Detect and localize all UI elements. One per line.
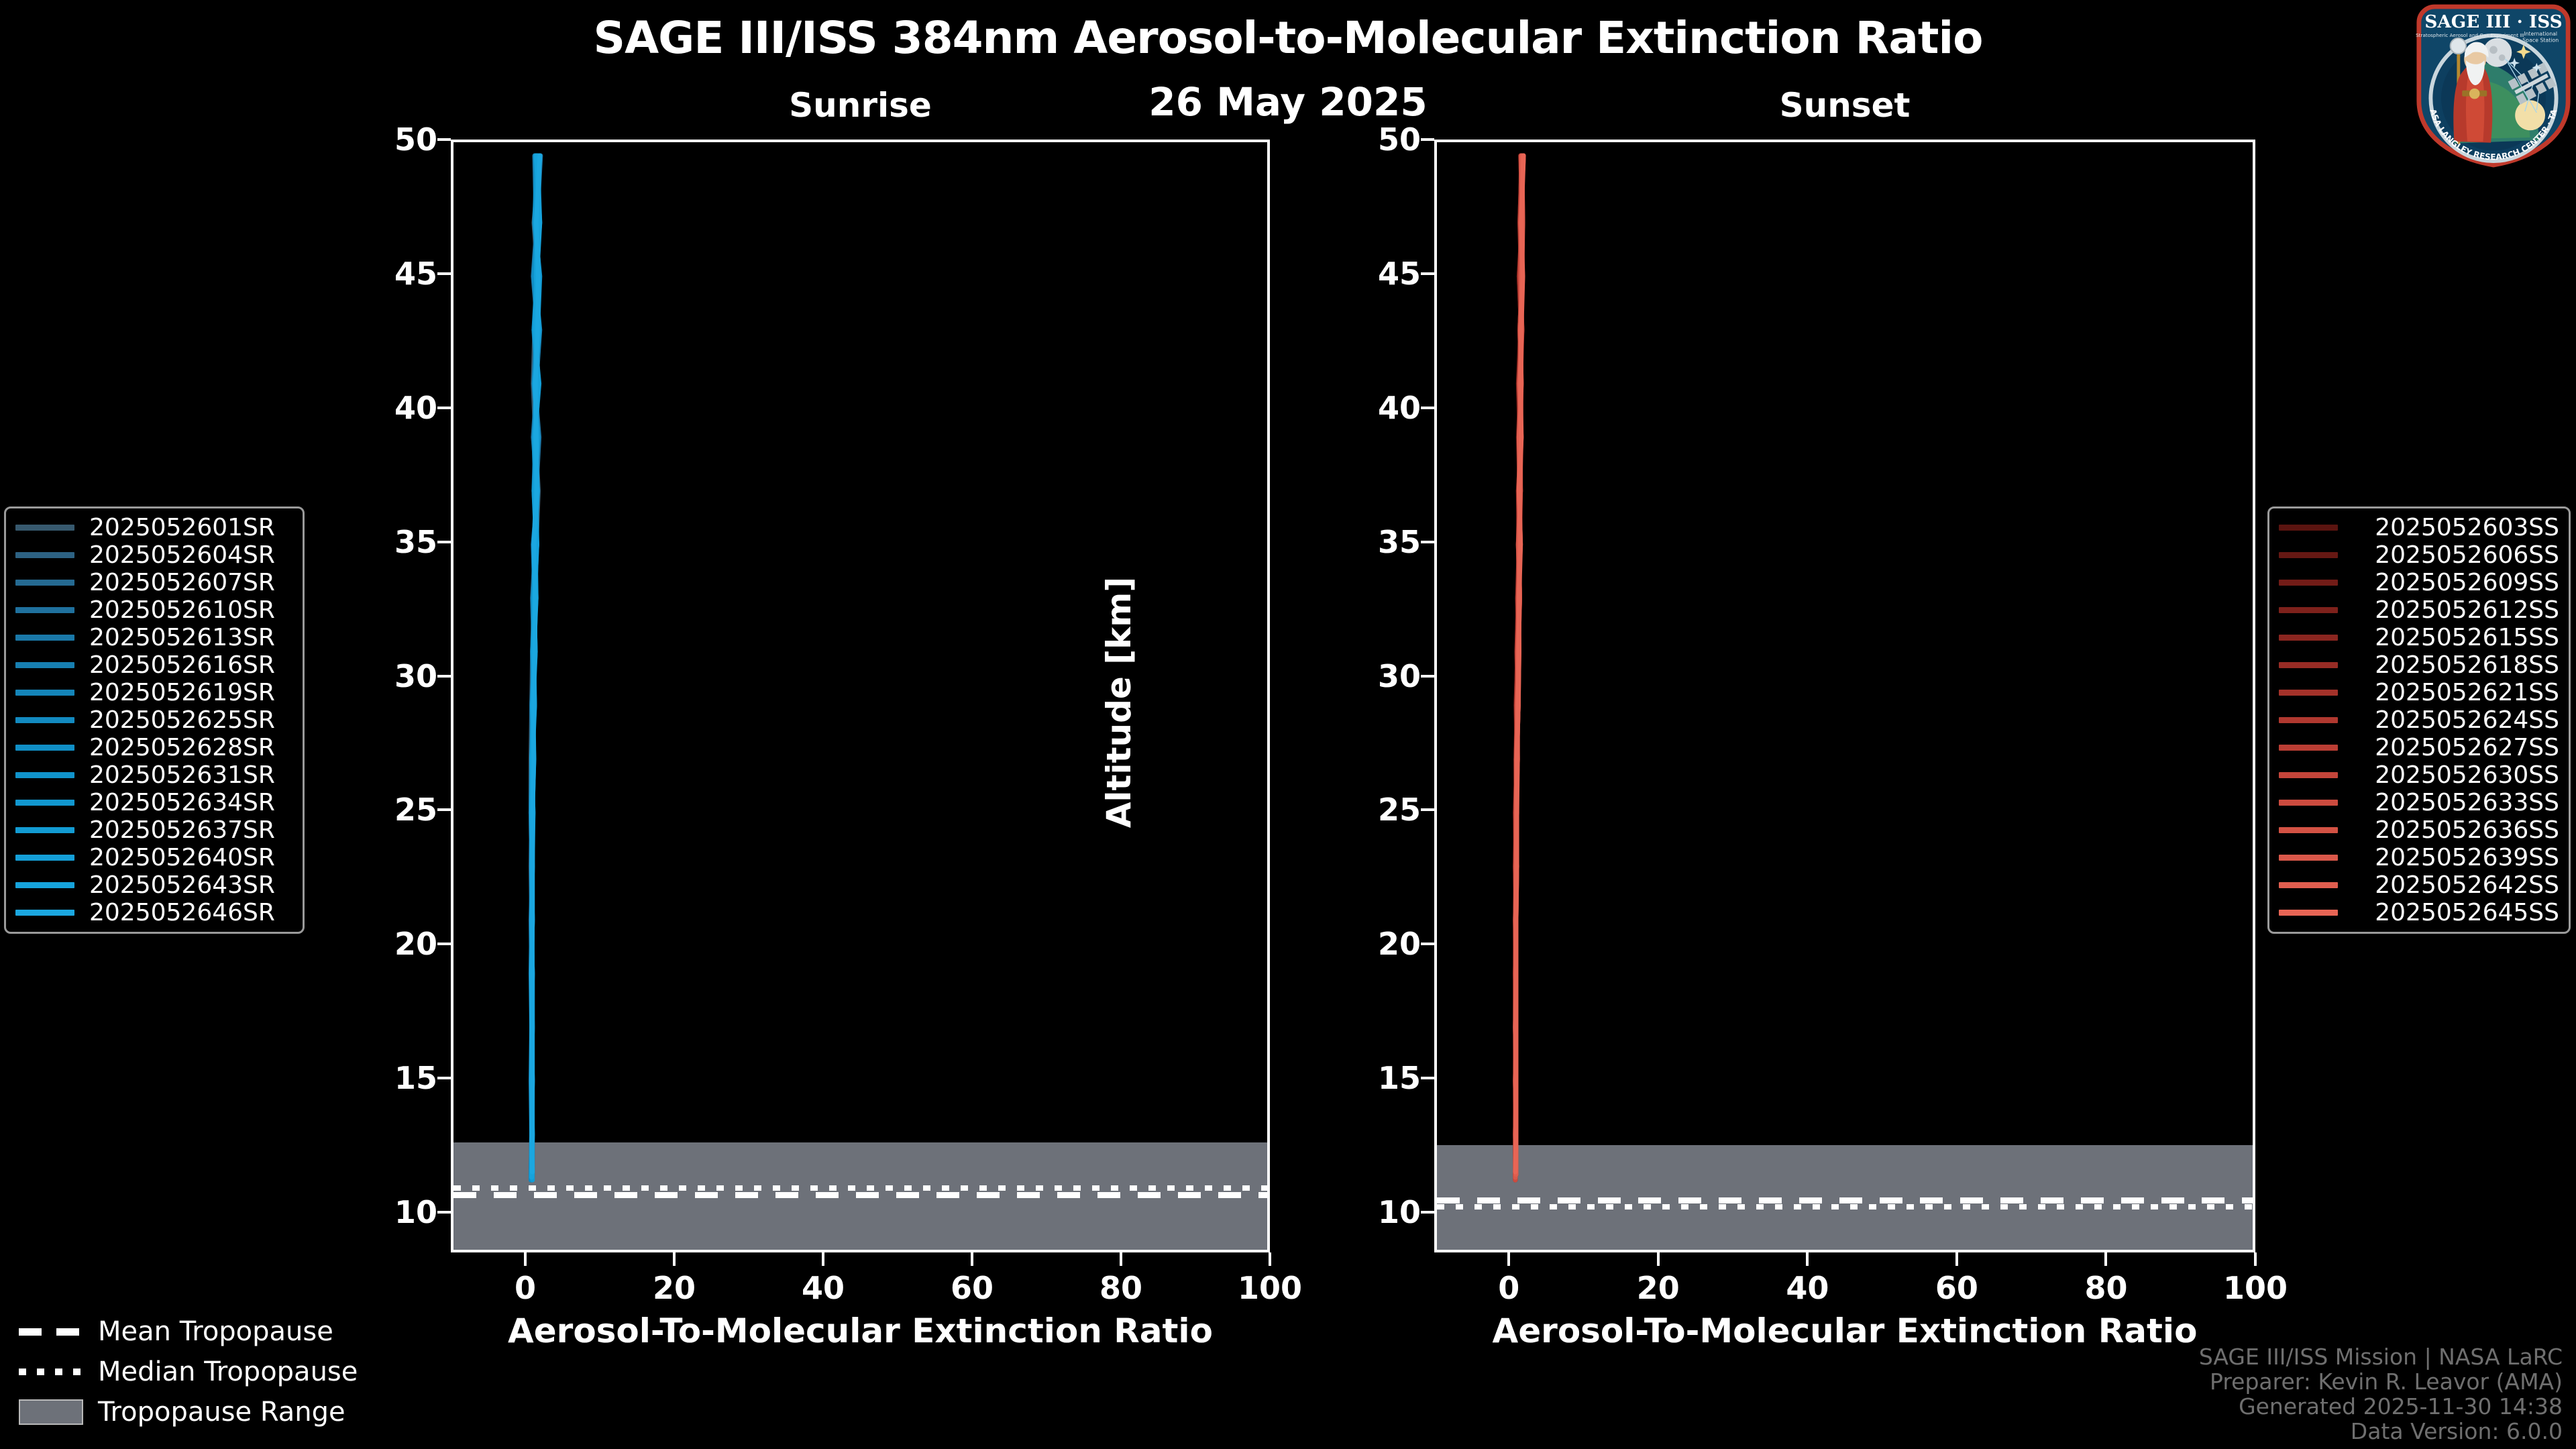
- legend-item[interactable]: 2025052625SR: [15, 706, 293, 734]
- ytick-label: 50: [364, 121, 437, 158]
- legend-color-swatch: [2279, 552, 2338, 558]
- ytick-mark: [437, 272, 451, 275]
- legend-label: 2025052646SR: [89, 899, 275, 926]
- legend-item[interactable]: 2025052612SS: [2279, 596, 2559, 624]
- ytick-label: 25: [364, 792, 437, 828]
- legend-label: 2025052631SR: [89, 761, 275, 789]
- ytick-label: 45: [364, 256, 437, 292]
- ytick-label: 30: [1347, 658, 1421, 694]
- legend-color-swatch: [15, 525, 74, 531]
- legend-color-swatch: [15, 745, 74, 751]
- ytick-mark: [1421, 407, 1434, 409]
- legend-item[interactable]: 2025052627SS: [2279, 734, 2559, 761]
- xtick-label: 80: [1099, 1270, 1142, 1306]
- legend-color-swatch: [2279, 910, 2338, 916]
- legend-item-tropopause-range: Tropopause Range: [19, 1392, 358, 1432]
- xtick-mark: [1657, 1252, 1660, 1266]
- legend-item[interactable]: 2025052606SS: [2279, 541, 2559, 569]
- credits-block: SAGE III/ISS Mission | NASA LaRC Prepare…: [2199, 1344, 2563, 1444]
- series-layer: [453, 142, 1267, 1250]
- legend-color-swatch: [15, 717, 74, 723]
- series-layer: [1437, 142, 2253, 1250]
- xtick-label: 80: [2084, 1270, 2127, 1306]
- ytick-mark: [1421, 1211, 1434, 1214]
- legend-item[interactable]: 2025052642SS: [2279, 871, 2559, 899]
- xtick-label: 40: [1786, 1270, 1829, 1306]
- ytick-label: 35: [1347, 524, 1421, 560]
- legend-item[interactable]: 2025052643SR: [15, 871, 293, 899]
- xtick-label: 100: [2223, 1270, 2288, 1306]
- legend-item[interactable]: 2025052645SS: [2279, 899, 2559, 926]
- legend-label: 2025052607SR: [89, 569, 275, 596]
- page-title: SAGE III/ISS 384nm Aerosol-to-Molecular …: [0, 12, 2576, 64]
- legend-label: 2025052643SR: [89, 871, 275, 899]
- xtick-label: 20: [1637, 1270, 1680, 1306]
- legend-color-swatch: [2279, 607, 2338, 613]
- legend-label: 2025052637SR: [89, 816, 275, 844]
- ytick-mark: [1421, 943, 1434, 945]
- ytick-mark: [1421, 1077, 1434, 1079]
- legend-item[interactable]: 2025052646SR: [15, 899, 293, 926]
- legend-color-swatch: [2279, 717, 2338, 723]
- legend-label: 2025052628SR: [89, 734, 275, 761]
- xtick-label: 100: [1238, 1270, 1302, 1306]
- legend-color-swatch: [2279, 800, 2338, 806]
- legend-label: 2025052609SS: [2353, 569, 2559, 596]
- legend-label: 2025052645SS: [2353, 899, 2559, 926]
- ytick-label: 30: [364, 658, 437, 694]
- logo-subtitle-right-1: International: [2524, 31, 2557, 37]
- legend-item[interactable]: 2025052616SR: [15, 651, 293, 679]
- ytick-label: 20: [1347, 926, 1421, 962]
- xtick-mark: [673, 1252, 676, 1266]
- xtick-mark: [524, 1252, 527, 1266]
- legend-item[interactable]: 2025052619SR: [15, 679, 293, 706]
- legend-item-median-tropopause: Median Tropopause: [19, 1352, 358, 1392]
- ytick-mark: [1421, 808, 1434, 811]
- legend-label: 2025052636SS: [2353, 816, 2559, 844]
- legend-label: 2025052619SR: [89, 679, 275, 706]
- ytick-mark: [437, 407, 451, 409]
- legend-item[interactable]: 2025052639SS: [2279, 844, 2559, 871]
- ytick-mark: [437, 138, 451, 141]
- legend-color-swatch: [15, 827, 74, 833]
- ytick-label: 35: [364, 524, 437, 560]
- ytick-mark: [1421, 272, 1434, 275]
- ytick-mark: [437, 541, 451, 543]
- legend-item-mean-tropopause: Mean Tropopause: [19, 1311, 358, 1352]
- legend-color-swatch: [15, 580, 74, 586]
- legend-label: 2025052624SS: [2353, 706, 2559, 734]
- legend-color-swatch: [15, 662, 74, 668]
- ytick-mark: [437, 1077, 451, 1079]
- xtick-mark: [822, 1252, 824, 1266]
- legend-item[interactable]: 2025052633SS: [2279, 789, 2559, 816]
- dotted-line-icon: [19, 1368, 83, 1375]
- legend-color-swatch: [2279, 580, 2338, 586]
- ytick-label: 40: [364, 390, 437, 426]
- ytick-mark: [1421, 675, 1434, 678]
- legend-label: 2025052606SS: [2353, 541, 2559, 569]
- legend-color-swatch: [15, 607, 74, 613]
- legend-color-swatch: [2279, 855, 2338, 861]
- ytick-mark: [1421, 138, 1434, 141]
- legend-label: 2025052642SS: [2353, 871, 2559, 899]
- legend-item[interactable]: 2025052601SR: [15, 514, 293, 541]
- legend-color-swatch: [15, 910, 74, 916]
- legend-color-swatch: [15, 882, 74, 888]
- dashed-line-icon: [19, 1328, 83, 1336]
- legend-color-swatch: [2279, 827, 2338, 833]
- xtick-mark: [1120, 1252, 1122, 1266]
- legend-item[interactable]: 2025052610SR: [15, 596, 293, 624]
- legend-label-median-tropopause: Median Tropopause: [98, 1356, 358, 1387]
- ytick-mark: [437, 1211, 451, 1214]
- legend-item[interactable]: 2025052630SS: [2279, 761, 2559, 789]
- credits-line-preparer: Preparer: Kevin R. Leavor (AMA): [2199, 1369, 2563, 1394]
- legend-label-tropopause-range: Tropopause Range: [98, 1397, 345, 1428]
- legend-item[interactable]: 2025052609SS: [2279, 569, 2559, 596]
- legend-item[interactable]: 2025052636SS: [2279, 816, 2559, 844]
- legend-label: 2025052603SS: [2353, 514, 2559, 541]
- ytick-label: 10: [1347, 1194, 1421, 1230]
- xtick-label: 60: [1935, 1270, 1978, 1306]
- plot-sunset[interactable]: [1434, 140, 2255, 1252]
- legend-label: 2025052621SS: [2353, 679, 2559, 706]
- credits-line-mission: SAGE III/ISS Mission | NASA LaRC: [2199, 1344, 2563, 1369]
- logo-title: SAGE III · ISS: [2424, 11, 2562, 32]
- legend-color-swatch: [15, 772, 74, 778]
- legend-item[interactable]: 2025052621SS: [2279, 679, 2559, 706]
- tropopause-legend: Mean Tropopause Median Tropopause Tropop…: [19, 1311, 358, 1432]
- ytick-label: 25: [1347, 792, 1421, 828]
- xtick-mark: [2104, 1252, 2107, 1266]
- legend-label: 2025052630SS: [2353, 761, 2559, 789]
- ytick-label: 50: [1347, 121, 1421, 158]
- legend-label: 2025052604SR: [89, 541, 275, 569]
- credits-line-data-version: Data Version: 6.0.0: [2199, 1419, 2563, 1444]
- legend-label: 2025052633SS: [2353, 789, 2559, 816]
- xaxis-title-right: Aerosol-To-Molecular Extinction Ratio: [1434, 1311, 2255, 1350]
- legend-item[interactable]: 2025052634SR: [15, 789, 293, 816]
- legend-label-mean-tropopause: Mean Tropopause: [98, 1316, 333, 1347]
- xtick-mark: [1806, 1252, 1809, 1266]
- xtick-label: 20: [653, 1270, 696, 1306]
- legend-label: 2025052640SR: [89, 844, 275, 871]
- yaxis-title-right: Altitude [km]: [1099, 528, 1138, 877]
- ytick-label: 40: [1347, 390, 1421, 426]
- ytick-label: 15: [1347, 1060, 1421, 1096]
- ytick-mark: [437, 943, 451, 945]
- xtick-label: 0: [1498, 1270, 1519, 1306]
- sage3-iss-mission-patch-logo: SAGE III · ISS Stratospheric Aerosol and…: [2415, 3, 2572, 168]
- legend-color-swatch: [15, 800, 74, 806]
- xtick-mark: [1269, 1252, 1271, 1266]
- legend-color-swatch: [15, 552, 74, 558]
- legend-label: 2025052627SS: [2353, 734, 2559, 761]
- logo-subtitle-right-2: Space Station: [2522, 38, 2559, 44]
- xtick-label: 0: [515, 1270, 536, 1306]
- legend-label: 2025052616SR: [89, 651, 275, 679]
- xtick-mark: [1507, 1252, 1510, 1266]
- legend-label: 2025052625SR: [89, 706, 275, 734]
- legend-color-swatch: [2279, 745, 2338, 751]
- panel-subtitle-sunset: Sunset: [1434, 86, 2255, 125]
- legend-label: 2025052618SS: [2353, 651, 2559, 679]
- ytick-mark: [437, 808, 451, 811]
- legend-sunset[interactable]: 2025052603SS2025052606SS2025052609SS2025…: [2267, 506, 2571, 934]
- ytick-mark: [437, 675, 451, 678]
- legend-item[interactable]: 2025052613SR: [15, 624, 293, 651]
- legend-color-swatch: [2279, 525, 2338, 531]
- legend-item[interactable]: 2025052624SS: [2279, 706, 2559, 734]
- legend-item[interactable]: 2025052607SR: [15, 569, 293, 596]
- xtick-mark: [1955, 1252, 1958, 1266]
- logo-subtitle-left: Stratospheric Aerosol and Gas Experiment…: [2416, 32, 2524, 38]
- legend-label: 2025052634SR: [89, 789, 275, 816]
- ytick-label: 45: [1347, 256, 1421, 292]
- xtick-mark: [2254, 1252, 2257, 1266]
- legend-label: 2025052613SR: [89, 624, 275, 651]
- legend-color-swatch: [2279, 772, 2338, 778]
- legend-item[interactable]: 2025052604SR: [15, 541, 293, 569]
- legend-label: 2025052615SS: [2353, 624, 2559, 651]
- legend-color-swatch: [2279, 882, 2338, 888]
- legend-color-swatch: [15, 635, 74, 641]
- legend-sunrise[interactable]: 2025052601SR2025052604SR2025052607SR2025…: [4, 506, 305, 934]
- legend-color-swatch: [2279, 635, 2338, 641]
- xtick-mark: [971, 1252, 973, 1266]
- legend-item[interactable]: 2025052618SS: [2279, 651, 2559, 679]
- legend-color-swatch: [15, 855, 74, 861]
- ytick-mark: [1421, 541, 1434, 543]
- ytick-label: 20: [364, 926, 437, 962]
- xtick-label: 40: [802, 1270, 845, 1306]
- legend-item[interactable]: 2025052637SR: [15, 816, 293, 844]
- legend-label: 2025052639SS: [2353, 844, 2559, 871]
- legend-label: 2025052601SR: [89, 514, 275, 541]
- legend-color-swatch: [2279, 662, 2338, 668]
- plot-sunrise[interactable]: [451, 140, 1270, 1252]
- legend-item[interactable]: 2025052640SR: [15, 844, 293, 871]
- legend-color-swatch: [2279, 690, 2338, 696]
- legend-item[interactable]: 2025052615SS: [2279, 624, 2559, 651]
- xtick-label: 60: [951, 1270, 994, 1306]
- legend-item[interactable]: 2025052603SS: [2279, 514, 2559, 541]
- legend-label: 2025052612SS: [2353, 596, 2559, 624]
- legend-item[interactable]: 2025052628SR: [15, 734, 293, 761]
- shaded-band-icon: [19, 1399, 83, 1425]
- ytick-label: 10: [364, 1194, 437, 1230]
- credits-line-generated: Generated 2025-11-30 14:38: [2199, 1394, 2563, 1419]
- xaxis-title-left: Aerosol-To-Molecular Extinction Ratio: [451, 1311, 1270, 1350]
- legend-label: 2025052610SR: [89, 596, 275, 624]
- ytick-label: 15: [364, 1060, 437, 1096]
- legend-color-swatch: [15, 690, 74, 696]
- legend-item[interactable]: 2025052631SR: [15, 761, 293, 789]
- panel-subtitle-sunrise: Sunrise: [451, 86, 1270, 125]
